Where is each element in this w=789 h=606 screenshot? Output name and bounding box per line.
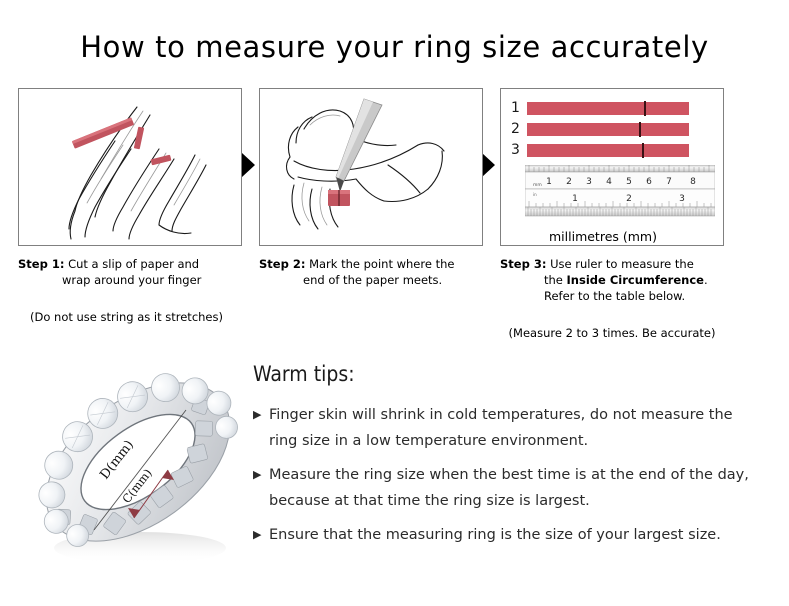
strip-row: 1 (511, 99, 715, 117)
step-1-note: (Do not use string as it stretches) (18, 310, 242, 325)
step-3-panel: 1 2 3 (500, 88, 724, 246)
tip-item: ▶ Measure the ring size when the best ti… (253, 462, 763, 514)
paper-wrap-red (134, 127, 172, 166)
pen-icon (336, 99, 382, 192)
tip-item: ▶ Ensure that the measuring ring is the … (253, 522, 763, 548)
svg-text:1: 1 (572, 194, 578, 204)
tip-text: Measure the ring size when the best time… (269, 462, 763, 514)
paper-slip-red (72, 117, 134, 148)
svg-text:6: 6 (646, 177, 652, 187)
inside-circumference-emphasis: Inside Circumference (567, 273, 704, 287)
warm-tips-section: Warm tips: ▶ Finger skin will shrink in … (253, 362, 763, 556)
svg-text:1: 1 (546, 177, 552, 187)
ruler-unit-caption: millimetres (mm) (501, 229, 705, 244)
strip-number: 2 (511, 122, 527, 136)
svg-text:7: 7 (666, 177, 672, 187)
step-1-label: Step 1: (18, 257, 64, 271)
step-3-line3: Refer to the table below. (500, 288, 724, 304)
step-2-caption: Step 2: Mark the point where the end of … (259, 256, 483, 288)
steps-row: Step 1: Cut a slip of paper and wrap aro… (0, 88, 789, 338)
ruler-icon: 123 456 78 mm 123 in (525, 165, 715, 223)
strip-number: 3 (511, 143, 527, 157)
tip-text: Ensure that the measuring ring is the si… (269, 522, 763, 548)
strip-bar (527, 102, 689, 115)
ring-diagram: D(mm) C(mm) (22, 352, 254, 580)
strip-row: 3 (511, 141, 715, 159)
bullet-triangle-icon: ▶ (253, 522, 269, 548)
strip-mark (642, 143, 644, 158)
paper-strips-group: 1 2 3 (511, 99, 715, 162)
step-1-panel (18, 88, 242, 246)
strip-mark (644, 101, 646, 116)
hand-marking-paper-with-pen-illustration (260, 89, 482, 245)
step-3-line2: the Inside Circumference. (500, 272, 724, 288)
warm-tips-heading: Warm tips: (253, 362, 763, 386)
strip-mark (639, 122, 641, 137)
strip-row: 2 (511, 120, 715, 138)
svg-text:in: in (533, 192, 537, 197)
hand-with-paper-slip-illustration (19, 89, 241, 245)
step-2-line1: Mark the point where the (309, 257, 454, 271)
tip-text: Finger skin will shrink in cold temperat… (269, 402, 763, 454)
step-3-column: 1 2 3 (500, 88, 724, 341)
eternity-ring-illustration: D(mm) C(mm) (22, 352, 254, 580)
svg-text:4: 4 (606, 177, 612, 187)
step-2-panel (259, 88, 483, 246)
ruler-illustration: 123 456 78 mm 123 in (525, 165, 715, 223)
svg-text:2: 2 (626, 194, 632, 204)
step-1-caption: Step 1: Cut a slip of paper and wrap aro… (18, 256, 242, 288)
page-title: How to measure your ring size accurately (0, 30, 789, 64)
paper-wrap-red (328, 190, 350, 206)
step-3-line1: Use ruler to measure the (550, 257, 694, 271)
step-2-line2: end of the paper meets. (259, 272, 483, 288)
svg-text:mm: mm (533, 183, 542, 188)
strip-number: 1 (511, 101, 527, 115)
step-2-column: Step 2: Mark the point where the end of … (259, 88, 483, 288)
bullet-triangle-icon: ▶ (253, 402, 269, 428)
bullet-triangle-icon: ▶ (253, 462, 269, 488)
step-1-column: Step 1: Cut a slip of paper and wrap aro… (18, 88, 242, 325)
svg-text:3: 3 (679, 194, 685, 204)
strip-bar (527, 123, 689, 136)
step-1-line2: wrap around your finger (18, 272, 242, 288)
tip-item: ▶ Finger skin will shrink in cold temper… (253, 402, 763, 454)
step-2-label: Step 2: (259, 257, 305, 271)
svg-text:8: 8 (690, 177, 696, 187)
step-3-note: (Measure 2 to 3 times. Be accurate) (500, 326, 724, 341)
svg-text:5: 5 (626, 177, 632, 187)
step-3-caption: Step 3: Use ruler to measure the the Ins… (500, 256, 724, 304)
step-1-line1: Cut a slip of paper and (68, 257, 199, 271)
strip-bar (527, 144, 689, 157)
svg-text:3: 3 (586, 177, 592, 187)
step-3-label: Step 3: (500, 257, 546, 271)
svg-text:2: 2 (566, 177, 572, 187)
